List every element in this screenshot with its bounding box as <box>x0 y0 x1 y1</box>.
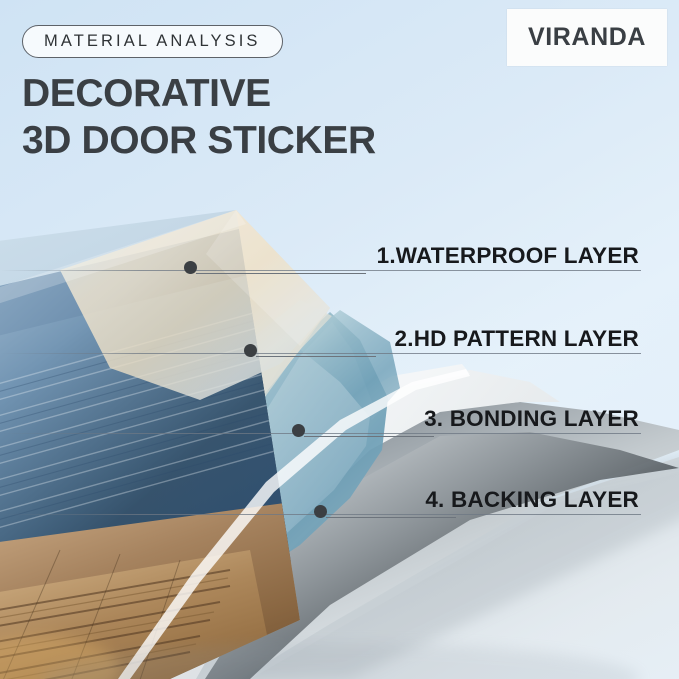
callout-leader-3 <box>304 436 434 437</box>
callout-label-1: 1.WATERPROOF LAYER <box>377 243 641 269</box>
callout-4: 4. BACKING LAYER <box>241 487 641 513</box>
material-analysis-badge: MATERIAL ANALYSIS <box>22 25 283 58</box>
callout-leader-4 <box>326 517 456 518</box>
callout-label-2: 2.HD PATTERN LAYER <box>395 326 641 352</box>
badge-label: MATERIAL ANALYSIS <box>44 32 261 51</box>
callout-rule-1 <box>0 270 641 271</box>
brand-logo-panel: VIRANDA <box>507 9 667 66</box>
callout-dot-1 <box>184 261 197 274</box>
callout-rule-3 <box>0 433 641 434</box>
callout-label-4: 4. BACKING LAYER <box>425 487 641 513</box>
poster-canvas: MATERIAL ANALYSIS DECORATIVE 3D DOOR STI… <box>0 0 679 679</box>
callout-label-3: 3. BONDING LAYER <box>424 406 641 432</box>
callout-3: 3. BONDING LAYER <box>241 406 641 432</box>
title-line-1: DECORATIVE <box>22 72 271 115</box>
callout-leader-2 <box>256 356 376 357</box>
callout-leader-1 <box>196 273 366 274</box>
brand-name: VIRANDA <box>528 23 646 52</box>
callout-1: 1.WATERPROOF LAYER <box>241 243 641 269</box>
callout-2: 2.HD PATTERN LAYER <box>241 326 641 352</box>
callout-rule-2 <box>0 353 641 354</box>
